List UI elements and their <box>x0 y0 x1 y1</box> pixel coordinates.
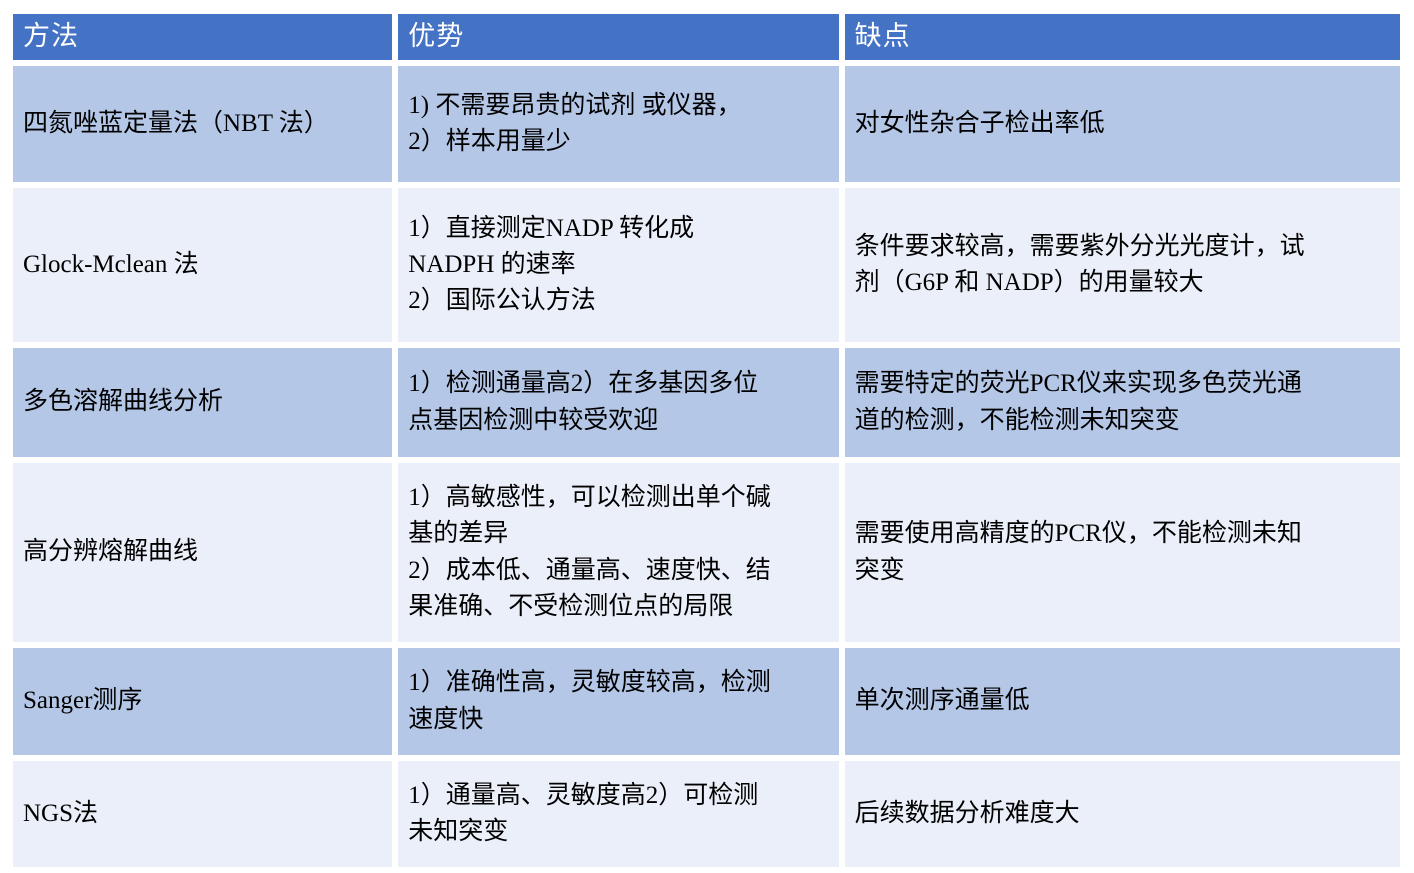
column-header-cons: 缺点 <box>845 14 1400 60</box>
table-header-row: 方法 优势 缺点 <box>13 14 1400 60</box>
pros-line: NADPH 的速率 <box>408 247 830 283</box>
table-row: 四氮唑蓝定量法（NBT 法） 1) 不需要昂贵的试剂 或仪器， 2）样本用量少 … <box>13 66 1400 182</box>
table-row: Sanger测序 1）准确性高，灵敏度较高，检测 速度快 单次测序通量低 <box>13 648 1400 755</box>
column-header-method: 方法 <box>13 14 392 60</box>
table-row: NGS法 1）通量高、灵敏度高2）可检测 未知突变 后续数据分析难度大 <box>13 761 1400 867</box>
pros-line: 1）通量高、灵敏度高2）可检测 <box>408 778 830 814</box>
pros-line: 1) 不需要昂贵的试剂 或仪器， <box>408 88 830 124</box>
column-header-pros: 优势 <box>398 14 838 60</box>
cons-line: 需要特定的荧光PCR仪来实现多色荧光通 <box>855 366 1392 402</box>
cons-line: 剂（G6P 和 NADP）的用量较大 <box>855 265 1392 301</box>
comparison-table-container: 方法 优势 缺点 四氮唑蓝定量法（NBT 法） 1) 不需要昂贵的试剂 或仪器，… <box>13 14 1400 801</box>
table-row: 高分辨熔解曲线 1）高敏感性，可以检测出单个碱 基的差异 2）成本低、通量高、速… <box>13 463 1400 642</box>
cell-method: NGS法 <box>13 761 392 867</box>
pros-line: 未知突变 <box>408 814 830 850</box>
cell-method: 多色溶解曲线分析 <box>13 348 392 457</box>
cell-pros: 1) 不需要昂贵的试剂 或仪器， 2）样本用量少 <box>398 66 838 182</box>
pros-line: 1）直接测定NADP 转化成 <box>408 211 830 247</box>
cell-pros: 1）高敏感性，可以检测出单个碱 基的差异 2）成本低、通量高、速度快、结 果准确… <box>398 463 838 642</box>
cons-line: 条件要求较高，需要紫外分光光度计，试 <box>855 229 1392 265</box>
cell-cons: 条件要求较高，需要紫外分光光度计，试 剂（G6P 和 NADP）的用量较大 <box>845 188 1400 342</box>
cell-cons: 后续数据分析难度大 <box>845 761 1400 867</box>
method-comparison-table: 方法 优势 缺点 四氮唑蓝定量法（NBT 法） 1) 不需要昂贵的试剂 或仪器，… <box>7 8 1406 873</box>
cons-line: 单次测序通量低 <box>855 683 1392 719</box>
cell-cons: 需要使用高精度的PCR仪，不能检测未知 突变 <box>845 463 1400 642</box>
pros-line: 2）成本低、通量高、速度快、结 <box>408 553 830 589</box>
pros-line: 果准确、不受检测位点的局限 <box>408 589 830 625</box>
cell-method: 高分辨熔解曲线 <box>13 463 392 642</box>
cons-line: 突变 <box>855 553 1392 589</box>
cell-cons: 需要特定的荧光PCR仪来实现多色荧光通 道的检测，不能检测未知突变 <box>845 348 1400 457</box>
cons-line: 对女性杂合子检出率低 <box>855 106 1392 142</box>
table-body: 四氮唑蓝定量法（NBT 法） 1) 不需要昂贵的试剂 或仪器， 2）样本用量少 … <box>13 66 1400 867</box>
cell-method: Sanger测序 <box>13 648 392 755</box>
cell-pros: 1）检测通量高2）在多基因多位 点基因检测中较受欢迎 <box>398 348 838 457</box>
cell-pros: 1）通量高、灵敏度高2）可检测 未知突变 <box>398 761 838 867</box>
pros-line: 速度快 <box>408 702 830 738</box>
cons-line: 需要使用高精度的PCR仪，不能检测未知 <box>855 516 1392 552</box>
cons-line: 道的检测，不能检测未知突变 <box>855 403 1392 439</box>
cell-cons: 单次测序通量低 <box>845 648 1400 755</box>
pros-line: 2）样本用量少 <box>408 124 830 160</box>
table-row: Glock-Mclean 法 1）直接测定NADP 转化成 NADPH 的速率 … <box>13 188 1400 342</box>
cons-line: 后续数据分析难度大 <box>855 796 1392 832</box>
pros-line: 1）检测通量高2）在多基因多位 <box>408 366 830 402</box>
cell-method: Glock-Mclean 法 <box>13 188 392 342</box>
pros-line: 点基因检测中较受欢迎 <box>408 403 830 439</box>
pros-line: 1）高敏感性，可以检测出单个碱 <box>408 480 830 516</box>
table-row: 多色溶解曲线分析 1）检测通量高2）在多基因多位 点基因检测中较受欢迎 需要特定… <box>13 348 1400 457</box>
cell-pros: 1）直接测定NADP 转化成 NADPH 的速率 2）国际公认方法 <box>398 188 838 342</box>
pros-line: 2）国际公认方法 <box>408 283 830 319</box>
cell-method: 四氮唑蓝定量法（NBT 法） <box>13 66 392 182</box>
pros-line: 1）准确性高，灵敏度较高，检测 <box>408 665 830 701</box>
pros-line: 基的差异 <box>408 516 830 552</box>
cell-pros: 1）准确性高，灵敏度较高，检测 速度快 <box>398 648 838 755</box>
cell-cons: 对女性杂合子检出率低 <box>845 66 1400 182</box>
